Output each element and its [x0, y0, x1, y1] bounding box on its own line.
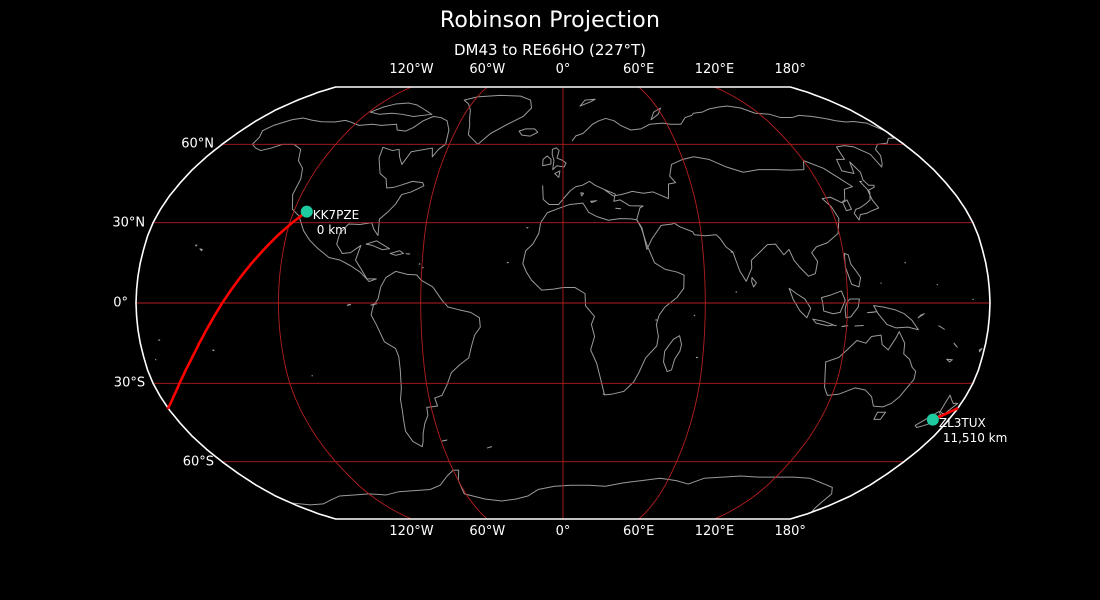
coastline-segment: [874, 412, 886, 419]
station-distance: 11,510 km: [939, 431, 1007, 446]
coastline-segment: [555, 171, 560, 178]
map-figure: Robinson Projection DM43 to RE66HO (227°…: [0, 0, 1100, 600]
station-marker-KK7PZE[interactable]: [301, 206, 313, 218]
coastline-segment: [868, 312, 878, 313]
coastline-segment: [552, 148, 566, 170]
geodesic-line: [168, 212, 307, 408]
coastline-segment: [213, 350, 214, 351]
robinson-map-canvas: [0, 0, 1100, 600]
coastline-segment: [979, 349, 982, 352]
top-tick-60°W: 60°W: [469, 62, 505, 77]
top-tick-60°E: 60°E: [623, 62, 654, 77]
coastline-segment: [487, 447, 491, 448]
coastline-segment: [874, 306, 919, 330]
coastline-segment: [371, 304, 377, 305]
top-tick-0°: 0°: [556, 62, 571, 77]
coastline-segment: [291, 470, 832, 512]
station-label-ZL3TUX: ZL3TUX11,510 km: [939, 416, 1007, 446]
coastline-segment: [464, 95, 531, 144]
bottom-tick-60°W: 60°W: [469, 524, 505, 539]
coastline-segment: [834, 325, 836, 326]
bottom-tick-180°: 180°: [775, 524, 806, 539]
bottom-tick-120°E: 120°E: [695, 524, 735, 539]
coastline-segment: [752, 278, 757, 287]
coastline-segment: [523, 203, 684, 395]
coastline-segment: [731, 252, 733, 253]
bottom-tick-60°E: 60°E: [623, 524, 654, 539]
coastline-segment: [664, 336, 682, 372]
coastline-segment: [947, 359, 953, 362]
coastline-segment: [656, 320, 657, 321]
left-tick-30°S: 30°S: [93, 376, 145, 391]
coastline-segment: [390, 251, 403, 256]
coastline-segment: [196, 245, 197, 246]
top-tick-120°W: 120°W: [389, 62, 433, 77]
station-marker-ZL3TUX[interactable]: [927, 414, 939, 426]
coastline-segment: [419, 264, 420, 265]
coastline-segment: [825, 332, 916, 407]
station-callsign: KK7PZE: [313, 208, 359, 223]
coastline-segment: [591, 201, 597, 203]
coastline-segment: [843, 200, 852, 211]
coastline-segment: [939, 326, 945, 329]
coastline-segment: [507, 262, 508, 263]
coastline-segment: [527, 227, 528, 228]
coastline-segment: [696, 357, 697, 358]
coastline-segment: [821, 291, 845, 314]
left-tick-60°N: 60°N: [162, 137, 214, 152]
coastline-segment: [572, 106, 885, 141]
station-callsign: ZL3TUX: [939, 416, 1007, 431]
coastline-segment: [855, 326, 863, 327]
coastline-segment: [581, 193, 584, 196]
bottom-tick-0°: 0°: [556, 524, 571, 539]
coastline-segment: [813, 319, 834, 326]
top-tick-180°: 180°: [775, 62, 806, 77]
coastline-segment: [366, 241, 389, 250]
coastline-segment: [918, 314, 924, 318]
left-tick-0°: 0°: [76, 296, 128, 311]
coastline-segment: [519, 129, 538, 136]
station-distance: 0 km: [313, 223, 359, 238]
coastline-segment: [543, 156, 551, 166]
left-tick-30°N: 30°N: [93, 215, 145, 230]
coastline-segment: [371, 271, 480, 446]
bottom-tick-120°W: 120°W: [389, 524, 433, 539]
coastline-segment: [616, 208, 621, 209]
coastline-segment: [442, 440, 447, 441]
station-label-KK7PZE: KK7PZE0 km: [313, 208, 359, 238]
coastline-segment: [580, 99, 595, 106]
top-tick-120°E: 120°E: [695, 62, 735, 77]
coastlines-layer: [155, 95, 982, 512]
graticule-layer: [136, 87, 990, 519]
coastline-segment: [603, 394, 604, 395]
coastline-segment: [651, 108, 660, 120]
coastline-segment: [543, 157, 853, 282]
left-tick-60°S: 60°S: [162, 454, 214, 469]
coastline-segment: [954, 343, 957, 347]
coastline-segment: [200, 249, 202, 251]
coastline-segment: [347, 304, 351, 305]
coastline-segment: [370, 103, 431, 116]
